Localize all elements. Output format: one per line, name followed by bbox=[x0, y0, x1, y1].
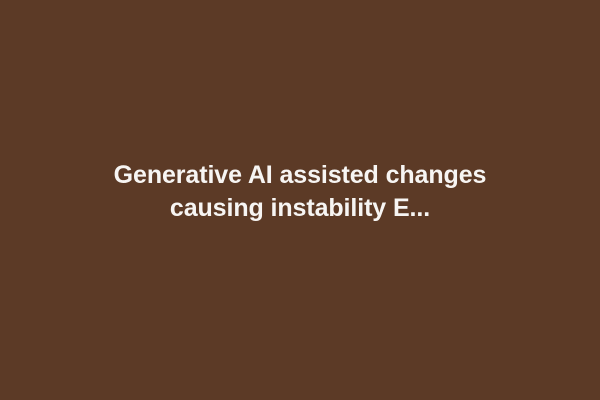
page-title: Generative AI assisted changes causing i… bbox=[66, 159, 534, 225]
headline-card: Generative AI assisted changes causing i… bbox=[0, 0, 600, 400]
headline-block: Generative AI assisted changes causing i… bbox=[60, 159, 540, 225]
